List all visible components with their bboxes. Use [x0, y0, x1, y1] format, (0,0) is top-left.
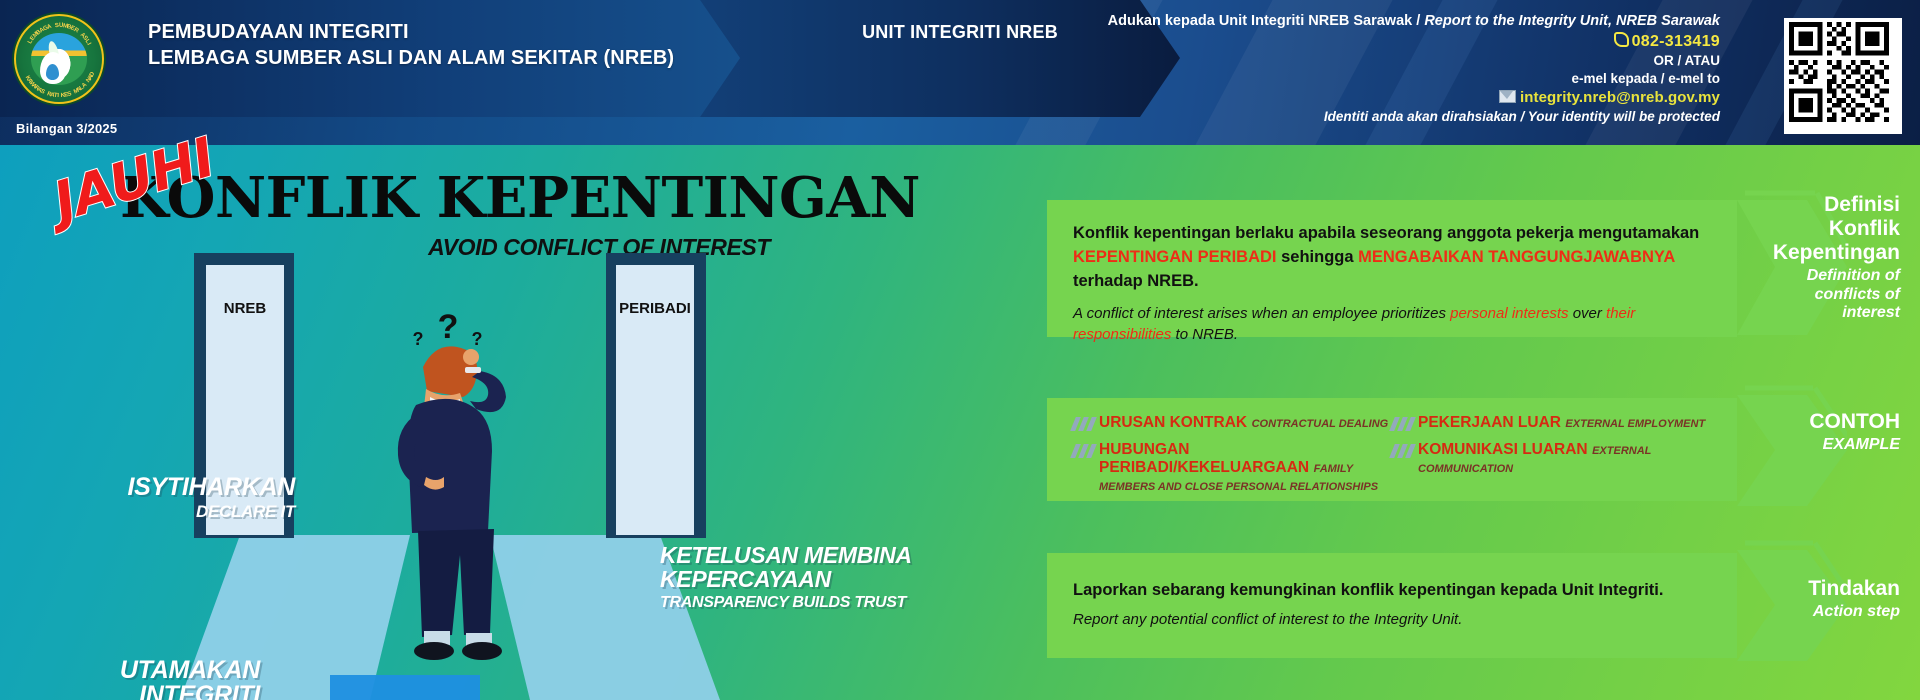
panel-examples: URUSAN KONTRAK CONTRACTUAL DEALING HUBUN… — [1047, 398, 1737, 501]
email-address: integrity.nreb@nreb.gov.my — [1520, 89, 1720, 106]
label-declare-ms: ISYTIHARKAN — [105, 475, 295, 500]
issue-number: Bilangan 3/2025 — [16, 121, 117, 136]
stripes-bullet-icon — [1073, 444, 1099, 458]
stripes-bullet-icon — [1073, 417, 1099, 431]
tab-examples-ms: CONTOH — [1760, 410, 1900, 434]
hero-title: KONFLIK KEPENTINGAN — [120, 170, 920, 226]
door-right-label: PERIBADI — [619, 300, 691, 317]
tab-definition-en: Definition of conflicts of interest — [1760, 267, 1900, 322]
mail-icon — [1499, 90, 1516, 103]
email-label: e-mel kepada / e-mel to — [1080, 70, 1720, 88]
example-text: KOMUNIKASI LUARAN EXTERNAL COMMUNICATION — [1418, 441, 1711, 477]
example-ms: KOMUNIKASI LUARAN — [1418, 441, 1588, 458]
label-declare: ISYTIHARKAN DECLARE IT — [105, 475, 295, 520]
org-line-1: PEMBUDAYAAN INTEGRITI — [148, 20, 674, 46]
org-line-2: LEMBAGA SUMBER ASLI DAN ALAM SEKITAR (NR… — [148, 46, 674, 72]
tab-definition: Definisi Konflik Kepentingan Definition … — [1760, 193, 1900, 323]
qr-code[interactable] — [1784, 18, 1902, 134]
definition-ms-part2: sehingga — [1277, 248, 1359, 266]
example-ms: URUSAN KONTRAK — [1099, 414, 1247, 431]
example-ms: HUBUNGAN PERIBADI/KEKELUARGAAN — [1099, 441, 1309, 476]
label-integrity-first: UTAMAKAN INTEGRITI INTEGRITY FIRST — [30, 658, 260, 700]
phone-number: 082-313419 — [1632, 33, 1720, 50]
header-org-title: PEMBUDAYAAN INTEGRITI LEMBAGA SUMBER ASL… — [148, 20, 674, 71]
panel-action: Laporkan sebarang kemungkinan konflik ke… — [1047, 553, 1737, 658]
or-label: OR / ATAU — [1080, 52, 1720, 70]
stripes-bullet-icon — [1392, 417, 1418, 431]
example-item: HUBUNGAN PERIBADI/KEKELUARGAAN FAMILY ME… — [1073, 441, 1392, 495]
label-integrity-ms: UTAMAKAN INTEGRITI — [30, 658, 260, 700]
door-left-label: NREB — [224, 300, 267, 317]
report-line: Adukan kepada Unit Integriti NREB Sarawa… — [1080, 12, 1720, 31]
infographic-poster: LEMBAGA SUMBER ASLIDAN ALAM SEKITAR SARA… — [0, 0, 1920, 700]
question-mark-small-icon: ? — [472, 329, 483, 349]
report-line-separator: / — [1412, 13, 1424, 29]
logo-ring-text: DAN ALAM SEKITAR SARAWAK — [16, 16, 102, 102]
poster-body: JAUHI KONFLIK KEPENTINGAN AVOID CONFLICT… — [0, 145, 1920, 700]
email-line[interactable]: integrity.nreb@nreb.gov.my — [1080, 88, 1720, 108]
definition-en-highlight-1: personal interests — [1450, 305, 1568, 322]
phone-icon — [1614, 32, 1629, 47]
action-en: Report any potential conflict of interes… — [1073, 611, 1711, 628]
definition-en-part2: over — [1569, 305, 1607, 322]
panel-definition-body: Konflik kepentingan berlaku apabila sese… — [1047, 200, 1737, 367]
examples-column-right: PEKERJAAN LUAR EXTERNAL EMPLOYMENT KOMUN… — [1392, 414, 1711, 504]
definition-en-part1: A conflict of interest arises when an em… — [1073, 305, 1450, 322]
panel-action-body: Laporkan sebarang kemungkinan konflik ke… — [1047, 553, 1737, 656]
report-line-ms: Adukan kepada Unit Integriti NREB Sarawa… — [1108, 13, 1413, 29]
example-en: EXTERNAL EMPLOYMENT — [1565, 418, 1705, 430]
definition-ms: Konflik kepentingan berlaku apabila sese… — [1073, 222, 1711, 294]
label-transparency: KETELUSAN MEMBINA KEPERCAYAAN TRANSPAREN… — [660, 543, 920, 611]
example-text: URUSAN KONTRAK CONTRACTUAL DEALING — [1099, 414, 1388, 432]
nreb-logo: LEMBAGA SUMBER ASLIDAN ALAM SEKITAR SARA… — [14, 14, 104, 104]
definition-ms-part3: terhadap NREB. — [1073, 272, 1199, 290]
floor-highlight — [330, 675, 480, 700]
contact-block: Adukan kepada Unit Integriti NREB Sarawa… — [1080, 12, 1720, 125]
tab-action: Tindakan Action step — [1760, 577, 1900, 622]
tab-definition-ms: Definisi Konflik Kepentingan — [1760, 193, 1900, 265]
definition-ms-part1: Konflik kepentingan berlaku apabila sese… — [1073, 224, 1699, 242]
definition-en-part3: to NREB. — [1171, 326, 1238, 343]
qr-code-icon — [1788, 22, 1890, 122]
question-mark-big-icon: ? — [438, 308, 459, 346]
action-ms: Laporkan sebarang kemungkinan konflik ke… — [1073, 581, 1711, 600]
example-ms: PEKERJAAN LUAR — [1418, 414, 1561, 431]
tab-action-ms: Tindakan — [1760, 577, 1900, 601]
tab-action-en: Action step — [1760, 603, 1900, 621]
definition-ms-highlight-1: KEPENTINGAN PERIBADI — [1073, 248, 1277, 266]
report-line-en: Report to the Integrity Unit, NREB Saraw… — [1424, 13, 1720, 29]
definition-en: A conflict of interest arises when an em… — [1073, 303, 1711, 346]
label-declare-en: DECLARE IT — [105, 503, 295, 520]
header-bar: LEMBAGA SUMBER ASLIDAN ALAM SEKITAR SARA… — [0, 0, 1920, 145]
example-item: PEKERJAAN LUAR EXTERNAL EMPLOYMENT — [1392, 414, 1711, 432]
person-figure — [398, 346, 506, 660]
question-mark-small-icon: ? — [413, 329, 424, 349]
panel-definition: Konflik kepentingan berlaku apabila sese… — [1047, 200, 1737, 337]
confidentiality-note: Identiti anda akan dirahsiakan / Your id… — [1080, 108, 1720, 126]
example-item: URUSAN KONTRAK CONTRACTUAL DEALING — [1073, 414, 1392, 432]
definition-ms-highlight-2: MENGABAIKAN TANGGUNGJAWABNYA — [1358, 248, 1675, 266]
example-item: KOMUNIKASI LUARAN EXTERNAL COMMUNICATION — [1392, 441, 1711, 477]
tab-examples-en: EXAMPLE — [1760, 436, 1900, 454]
examples-grid: URUSAN KONTRAK CONTRACTUAL DEALING HUBUN… — [1073, 414, 1711, 504]
examples-column-left: URUSAN KONTRAK CONTRACTUAL DEALING HUBUN… — [1073, 414, 1392, 504]
label-transparency-ms: KETELUSAN MEMBINA KEPERCAYAAN — [660, 543, 920, 592]
phone-line[interactable]: 082-313419 — [1080, 31, 1720, 52]
example-text: PEKERJAAN LUAR EXTERNAL EMPLOYMENT — [1418, 414, 1705, 432]
example-text: HUBUNGAN PERIBADI/KEKELUARGAAN FAMILY ME… — [1099, 441, 1392, 495]
stripes-bullet-icon — [1392, 444, 1418, 458]
example-en: CONTRACTUAL DEALING — [1252, 418, 1389, 430]
tab-examples: CONTOH EXAMPLE — [1760, 410, 1900, 455]
label-transparency-en: TRANSPARENCY BUILDS TRUST — [660, 595, 920, 611]
panel-examples-body: URUSAN KONTRAK CONTRACTUAL DEALING HUBUN… — [1047, 398, 1737, 520]
